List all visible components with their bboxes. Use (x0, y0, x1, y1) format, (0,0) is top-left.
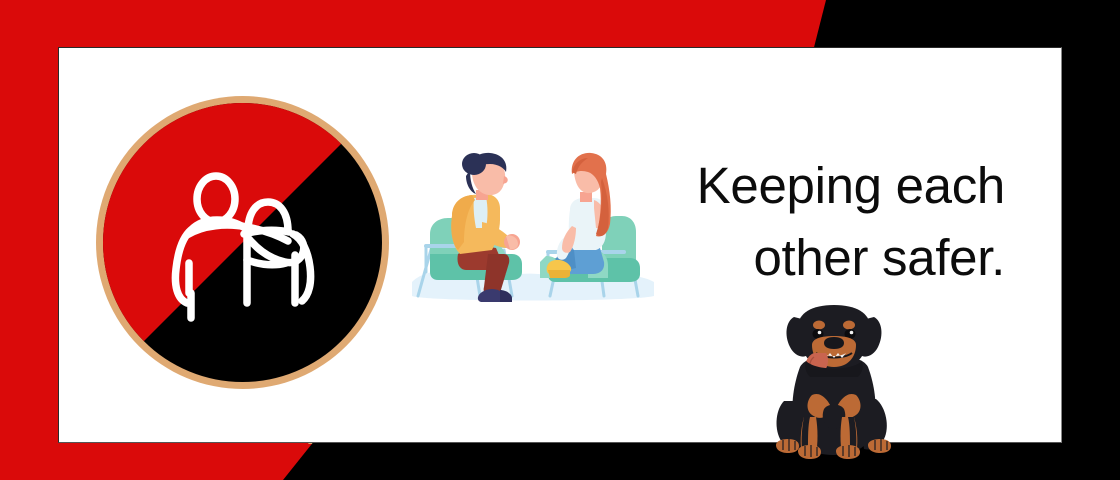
banner-root: Keeping each other safer. (0, 0, 1120, 480)
black-right-column (1062, 0, 1120, 480)
badge-inner-disc (103, 103, 382, 382)
safeguarding-badge (96, 96, 389, 389)
two-people-arm-around-shoulder-icon (103, 103, 382, 382)
headline: Keeping each other safer. (600, 150, 1005, 295)
headline-line-1: Keeping each (600, 150, 1005, 222)
black-bottom-band (330, 443, 1120, 480)
rottweiler-dog-illustration (772, 305, 897, 473)
red-left-column (0, 0, 58, 480)
headline-line-2: other safer. (600, 222, 1005, 294)
